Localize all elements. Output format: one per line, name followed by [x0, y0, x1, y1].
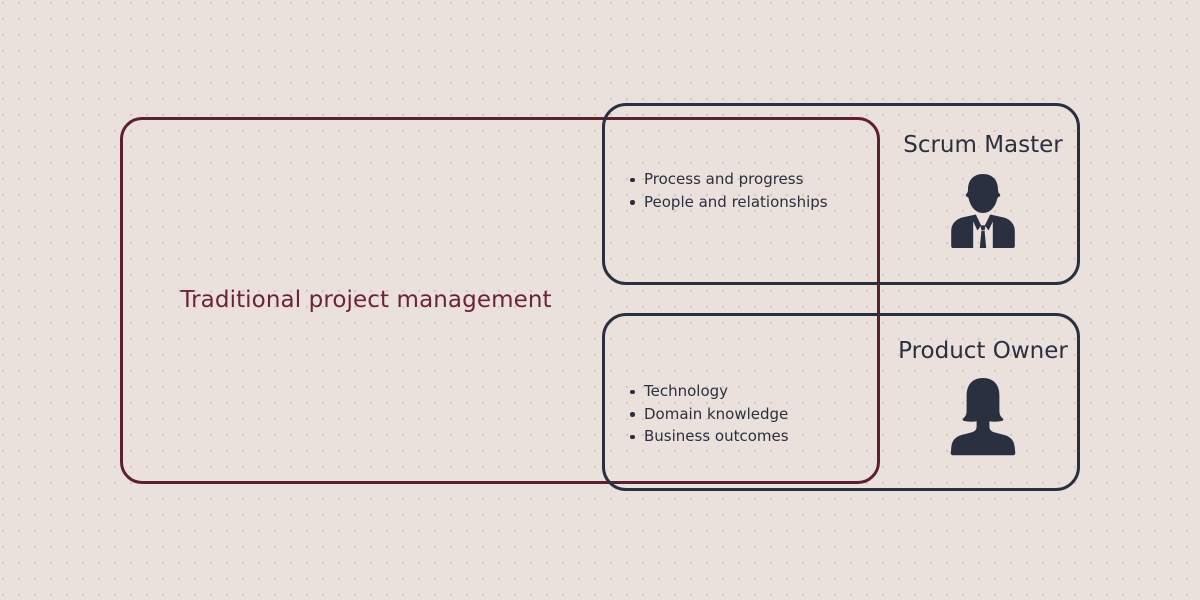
traditional-project-management-label: Traditional project management — [100, 287, 632, 313]
scrum-master-title: Scrum Master — [883, 132, 1083, 158]
list-item: Domain knowledge — [630, 403, 789, 426]
role-card-product-owner[interactable]: Technology Domain knowledge Business out… — [602, 313, 1080, 491]
list-item: Technology — [630, 380, 789, 403]
list-item: Process and progress — [630, 168, 828, 191]
list-item: People and relationships — [630, 191, 828, 214]
businesswoman-avatar-icon — [947, 374, 1019, 460]
product-owner-role-pane: Product Owner — [883, 316, 1083, 488]
diagram-canvas: Traditional project management Process a… — [0, 0, 1200, 600]
businessman-suit-avatar-icon — [947, 168, 1019, 254]
scrum-master-bullet-pane: Process and progress People and relation… — [605, 106, 883, 282]
scrum-master-role-pane: Scrum Master — [883, 106, 1083, 282]
role-card-scrum-master[interactable]: Process and progress People and relation… — [602, 103, 1080, 285]
list-item: Business outcomes — [630, 425, 789, 448]
product-owner-title: Product Owner — [883, 338, 1083, 364]
scrum-master-bullet-list: Process and progress People and relation… — [630, 168, 828, 213]
product-owner-bullet-list: Technology Domain knowledge Business out… — [630, 380, 789, 448]
product-owner-bullet-pane: Technology Domain knowledge Business out… — [605, 316, 883, 488]
